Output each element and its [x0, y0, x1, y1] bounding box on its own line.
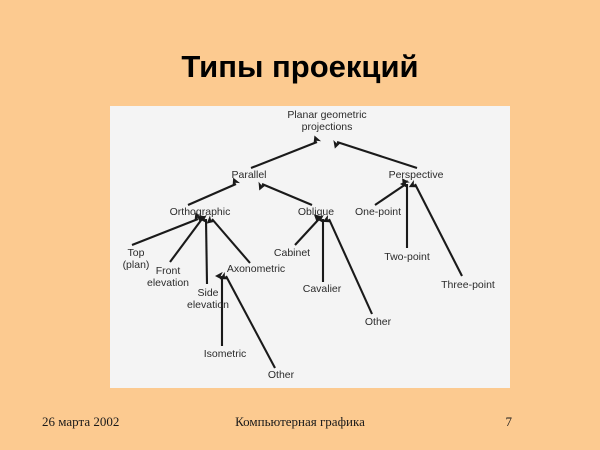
edge-axonometric-to-orthographic [212, 219, 250, 263]
edge-sideelevation-to-orthographic [206, 219, 207, 284]
slide: Типы проекций [0, 0, 600, 450]
node-axonometric: Axonometric [227, 263, 285, 275]
node-front-elevation-line2: elevation [147, 277, 189, 289]
node-front-elevation-line1: Front [156, 265, 181, 277]
node-isometric: Isometric [204, 348, 247, 360]
node-axonometric-other: Other [268, 369, 295, 381]
node-parallel: Parallel [231, 169, 266, 181]
slide-footer: 26 марта 2002 Компьютерная графика 7 [0, 408, 600, 438]
node-side-elevation-line1: Side [197, 287, 218, 299]
diagram-panel: Planar geometric projections Parallel Pe… [110, 106, 510, 388]
edge-oblique-to-parallel [262, 184, 312, 205]
node-two-point: Two-point [384, 251, 430, 263]
edge-frontelevation-to-orthographic [170, 219, 202, 262]
edge-perspective-to-root [337, 142, 417, 168]
node-oblique: Oblique [298, 206, 334, 218]
node-three-point: Three-point [441, 279, 495, 291]
edge-orthographic-to-parallel [188, 184, 236, 205]
node-perspective: Perspective [389, 169, 444, 181]
node-oblique-other: Other [365, 316, 392, 328]
diagram-nodes: Planar geometric projections Parallel Pe… [123, 109, 495, 381]
edge-parallel-to-root [251, 142, 317, 168]
edge-oblique-other-to-oblique [329, 219, 372, 314]
node-top-plan-line1: Top [128, 247, 145, 259]
node-cavalier: Cavalier [303, 283, 342, 295]
node-orthographic: Orthographic [170, 206, 231, 218]
projection-taxonomy-diagram: Planar geometric projections Parallel Pe… [110, 106, 510, 388]
node-root-line1: Planar geometric [287, 109, 366, 121]
node-top-plan-line2: (plan) [123, 259, 150, 271]
node-cabinet: Cabinet [274, 247, 310, 259]
footer-page-number: 7 [0, 414, 600, 430]
edge-topplan-to-orthographic [132, 219, 198, 245]
node-root-line2: projections [302, 121, 353, 133]
page-title: Типы проекций [0, 50, 600, 84]
node-side-elevation-line2: elevation [187, 299, 229, 311]
edge-cabinet-to-oblique [295, 219, 319, 245]
node-one-point: One-point [355, 206, 401, 218]
edge-onepoint-to-perspective [375, 184, 406, 205]
